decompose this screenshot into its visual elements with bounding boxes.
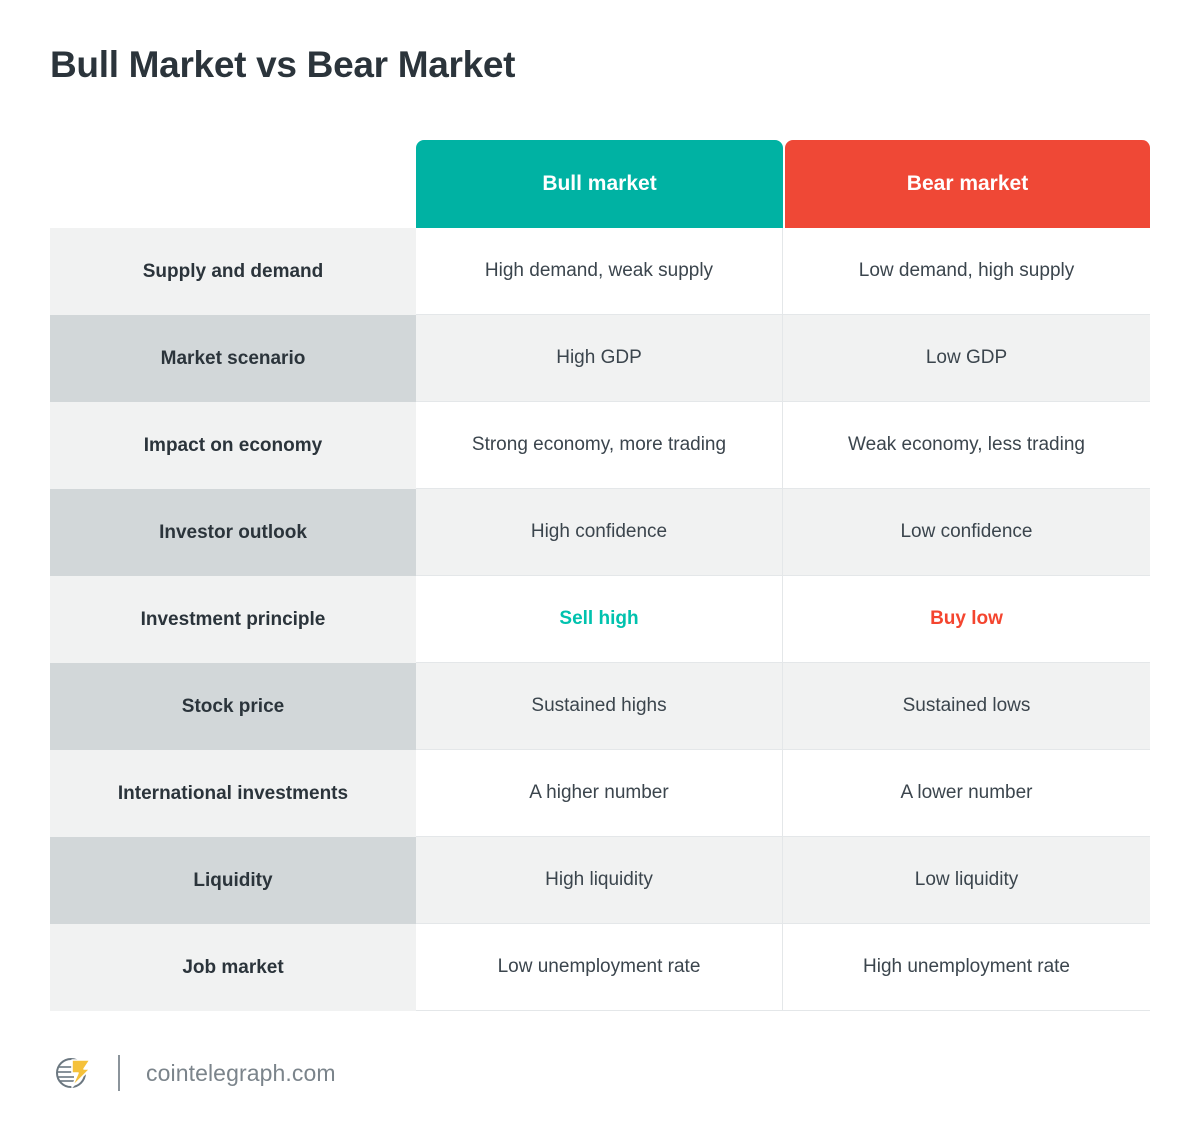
row-label: Supply and demand [50,228,416,315]
cell-bull: High GDP [416,315,783,402]
row-label: Impact on economy [50,402,416,489]
page-title: Bull Market vs Bear Market [50,44,515,86]
column-header-bull: Bull market [416,140,783,228]
cell-bear: Sustained lows [783,663,1150,750]
cell-bear: Low GDP [783,315,1150,402]
table-row: LiquidityHigh liquidityLow liquidity [50,837,1150,924]
table-row: Stock priceSustained highsSustained lows [50,663,1150,750]
cell-bear: A lower number [783,750,1150,837]
column-header-bear: Bear market [785,140,1150,228]
footer-divider [118,1055,120,1091]
comparison-table: Bull market Bear market Supply and deman… [50,140,1150,1011]
cell-bull: High confidence [416,489,783,576]
table-body: Supply and demandHigh demand, weak suppl… [50,228,1150,1011]
row-label: Job market [50,924,416,1011]
cell-bull: Sustained highs [416,663,783,750]
header-label-spacer [50,140,416,228]
cell-bear: Buy low [783,576,1150,663]
row-label: Investor outlook [50,489,416,576]
table-row: Impact on economyStrong economy, more tr… [50,402,1150,489]
row-label: Liquidity [50,837,416,924]
cell-bull: High liquidity [416,837,783,924]
infographic-page: Bull Market vs Bear Market Bull market B… [0,0,1200,1140]
cell-bull: Strong economy, more trading [416,402,783,489]
footer: cointelegraph.com [50,1048,336,1098]
cointelegraph-logo-icon [50,1050,96,1096]
cell-bull: Low unemployment rate [416,924,783,1011]
table-row: Investor outlookHigh confidenceLow confi… [50,489,1150,576]
cell-bull: A higher number [416,750,783,837]
footer-site-label: cointelegraph.com [146,1060,336,1087]
row-label: Market scenario [50,315,416,402]
row-label: Stock price [50,663,416,750]
row-label: Investment principle [50,576,416,663]
table-row: Job marketLow unemployment rateHigh unem… [50,924,1150,1011]
cell-bear: Weak economy, less trading [783,402,1150,489]
cell-bull: Sell high [416,576,783,663]
table-row: Supply and demandHigh demand, weak suppl… [50,228,1150,315]
cell-bull: High demand, weak supply [416,228,783,315]
cell-bear: High unemployment rate [783,924,1150,1011]
cell-bear: Low confidence [783,489,1150,576]
table-row: Market scenarioHigh GDPLow GDP [50,315,1150,402]
table-header-row: Bull market Bear market [50,140,1150,228]
cell-bear: Low liquidity [783,837,1150,924]
table-row: Investment principleSell highBuy low [50,576,1150,663]
table-row: International investmentsA higher number… [50,750,1150,837]
cell-bear: Low demand, high supply [783,228,1150,315]
row-label: International investments [50,750,416,837]
